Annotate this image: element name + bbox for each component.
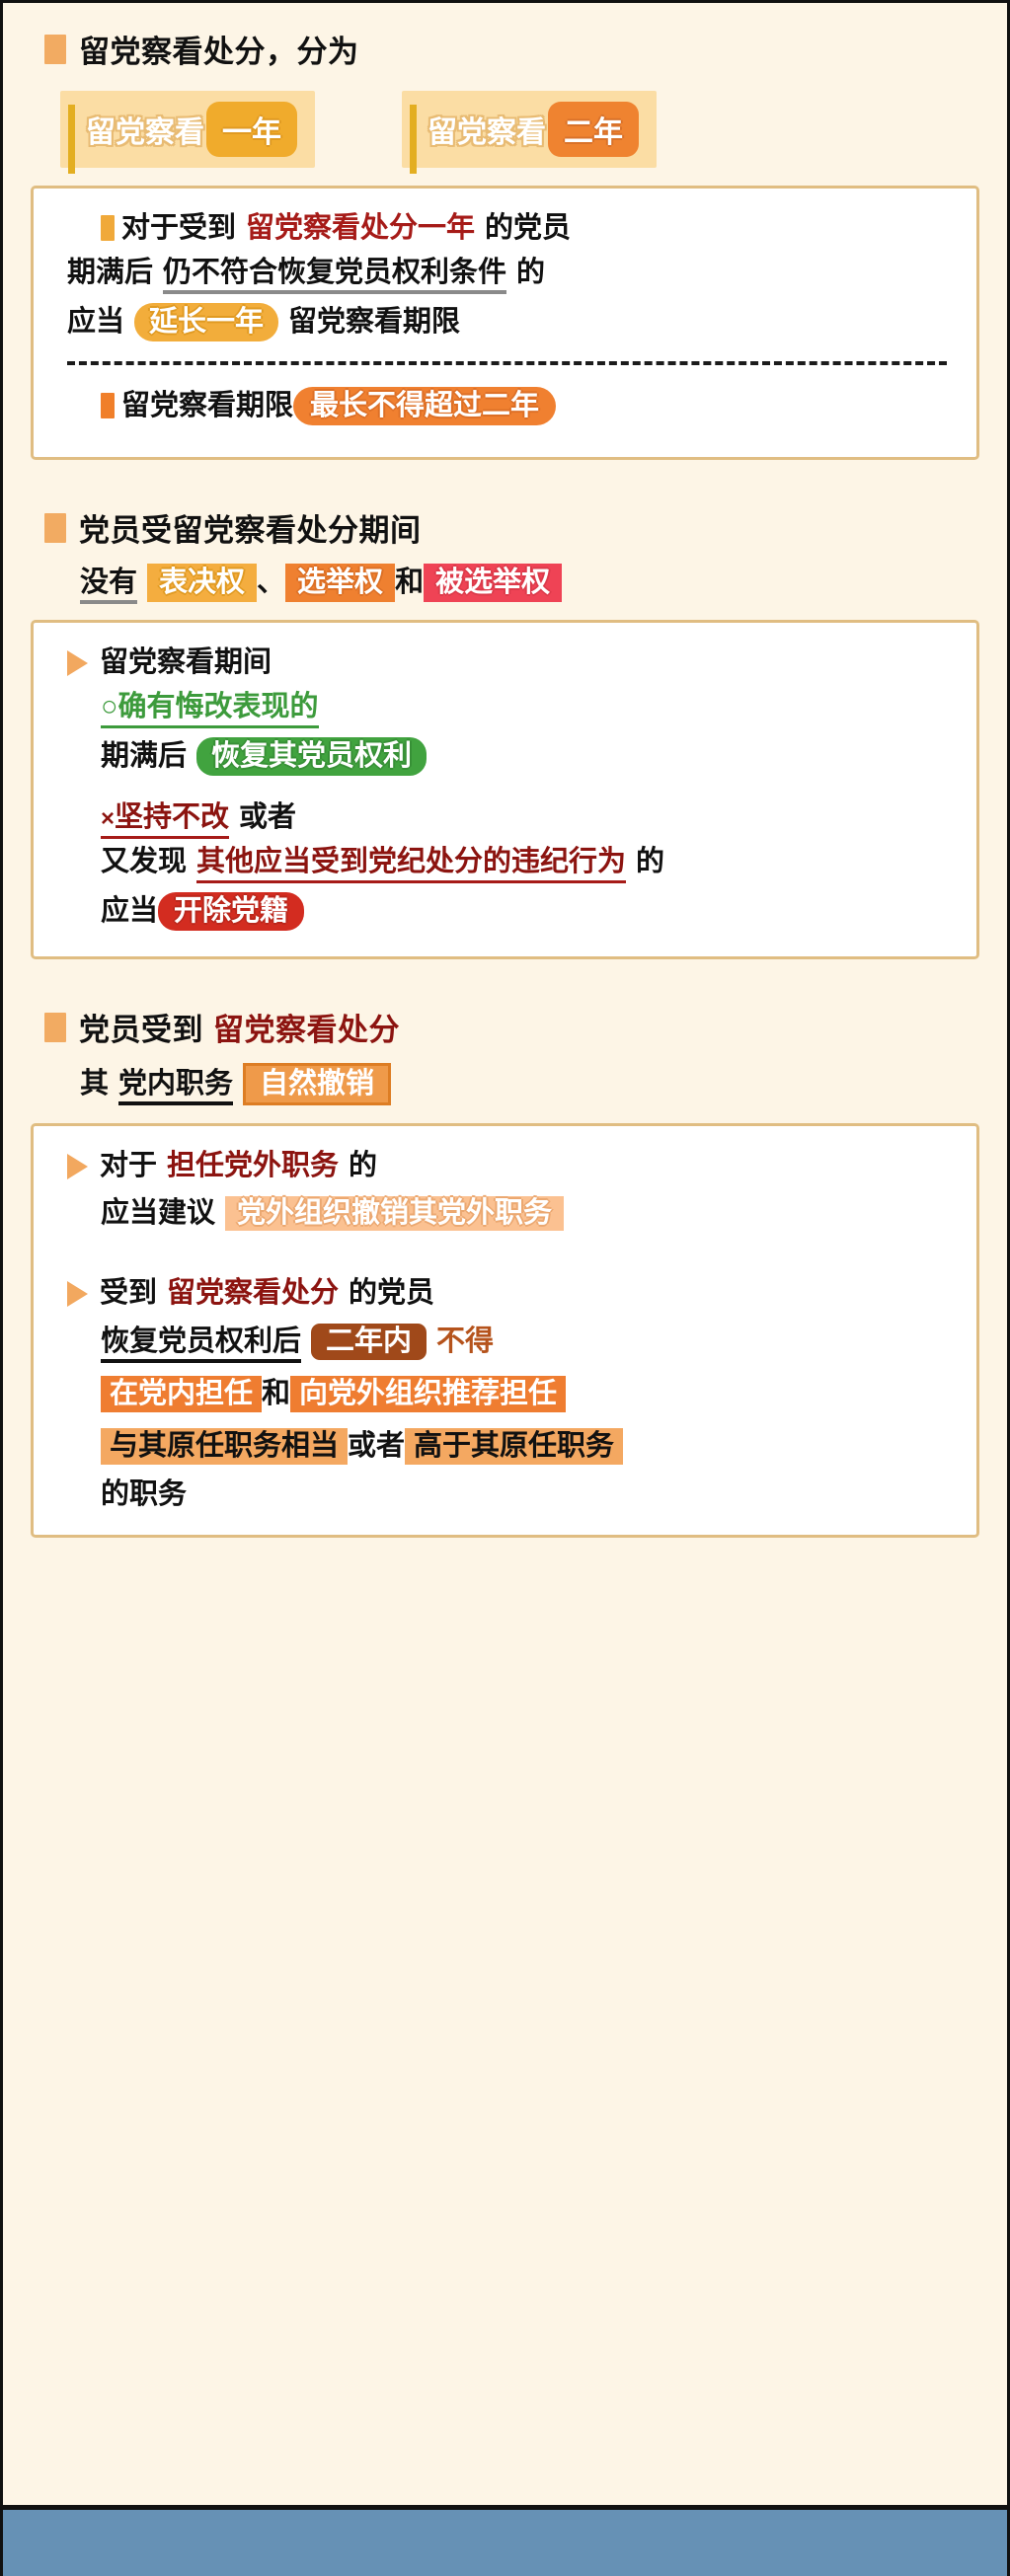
s3-b2-line-4: 与其原任职务相当或者高于其原任职务 xyxy=(67,1428,947,1465)
section-3-subline: 其党内职务自然撤销 xyxy=(44,1063,979,1105)
s2-l3-a: 期满后 xyxy=(101,740,187,772)
s3-b2-l4-c-mark: 高于其原任职务 xyxy=(405,1428,623,1465)
s3-b1-l2-b-highlight: 党外组织撤销其党外职务 xyxy=(225,1196,564,1234)
s2-line-2: ○确有悔改表现的 xyxy=(67,693,947,721)
section-3-card: 对于担任党外职务的 应当建议党外组织撤销其党外职务 受到留党察看处分的党员 恢复… xyxy=(31,1123,979,1538)
s3-b2-line-1: 受到留党察看处分的党员 xyxy=(67,1279,947,1308)
bottom-bar xyxy=(0,2505,1010,2576)
s1-b1-l1-c: 的党员 xyxy=(485,212,571,244)
year-badge-two-prefix: 留党察看 xyxy=(422,108,546,151)
circle-mark-icon: ○ xyxy=(101,691,118,722)
section-1-header: 留党察看处分，分为 xyxy=(31,27,979,71)
s1-b1-line-2: 期满后仍不符合恢复党员权利条件的 xyxy=(67,259,947,287)
s2-sep-1: 、 xyxy=(257,567,285,598)
s1-block-2: 留党察看期限最长不得超过二年 xyxy=(67,387,947,425)
s3-b1-l1-a: 对于 xyxy=(100,1152,157,1180)
s2-l1-text: 留党察看期间 xyxy=(100,648,272,677)
section-2-rights-line: 没有表决权、选举权和被选举权 xyxy=(44,564,979,602)
triangle-bullet-icon xyxy=(67,650,88,676)
s2-l2-text: 确有悔改表现的 xyxy=(118,691,319,722)
s3-b2-line-5: 的职务 xyxy=(67,1480,947,1509)
s1-b1-l2-a: 期满后 xyxy=(67,257,153,288)
s2-l5-a: 又发现 xyxy=(101,846,187,877)
square-bullet-icon xyxy=(44,1013,66,1042)
s2-l5-b: 其他应当受到党纪处分的违纪行为 xyxy=(196,846,626,883)
s3-b2-l4-a-mark: 与其原任职务相当 xyxy=(101,1428,348,1465)
s1-b1-l2-c: 的 xyxy=(516,257,545,288)
year-badge-two: 留党察看 二年 xyxy=(402,91,657,168)
s1-b1-l3-c: 留党察看期限 xyxy=(288,306,460,338)
year-badge-row: 留党察看 一年 留党察看 二年 xyxy=(31,77,979,176)
s3-b2-l3-c-mark: 向党外组织推荐担任 xyxy=(290,1376,566,1412)
content-sheet: 留党察看处分，分为 留党察看 一年 留党察看 二年 对于受到留党察看处分一年的党… xyxy=(3,3,1007,2505)
s1-b1-l1-a: 对于受到 xyxy=(121,212,236,244)
s2-line-5: 又发现其他应当受到党纪处分的违纪行为的 xyxy=(67,848,947,876)
s3-b2-l1-b: 留党察看处分 xyxy=(167,1279,339,1308)
square-bullet-icon xyxy=(44,35,66,64)
s2-l4-a: 坚持不改 xyxy=(115,801,229,833)
s2-line-4: ×坚持不改或者 xyxy=(67,803,947,832)
s1-block-1: 对于受到留党察看处分一年的党员 期满后仍不符合恢复党员权利条件的 应当延长一年留… xyxy=(67,214,947,341)
s2-line-6: 应当开除党籍 xyxy=(67,892,947,931)
s1-b2-l1-a: 留党察看期限 xyxy=(121,390,293,421)
year-badge-one: 留党察看 一年 xyxy=(60,91,315,168)
s3-sub-a: 其 xyxy=(80,1068,109,1099)
s2-l6-b-pill: 开除党籍 xyxy=(158,892,304,931)
s3-b1-line-1: 对于担任党外职务的 xyxy=(67,1152,947,1180)
section-2-title: 党员受留党察看处分期间 xyxy=(79,505,422,550)
s1-b2-l1-b-pill: 最长不得超过二年 xyxy=(293,387,556,425)
s1-b1-l1-b: 留党察看处分一年 xyxy=(246,212,475,244)
square-bullet-icon xyxy=(101,393,115,418)
s3-b2-line-2: 恢复党员权利后二年内不得 xyxy=(67,1324,947,1360)
s3-title-b: 留党察看处分 xyxy=(213,1013,400,1047)
s2-no-label: 没有 xyxy=(80,567,137,604)
s3-b2-l2-b-pill: 二年内 xyxy=(311,1324,427,1360)
s2-line-3: 期满后恢复其党员权利 xyxy=(67,737,947,776)
s3-b2-l3-b: 和 xyxy=(262,1378,290,1409)
year-badge-one-prefix: 留党察看 xyxy=(80,108,204,151)
s3-b2-l2-c: 不得 xyxy=(436,1326,494,1357)
s3-b2-l4-b: 或者 xyxy=(348,1430,405,1462)
s1-b1-l2-b: 仍不符合恢复党员权利条件 xyxy=(163,257,506,294)
s1-b1-line-3: 应当延长一年留党察看期限 xyxy=(67,303,947,341)
section-3-header: 党员受到留党察看处分 其党内职务自然撤销 xyxy=(31,1005,979,1105)
s2-l6-a: 应当 xyxy=(101,895,158,927)
triangle-bullet-icon xyxy=(67,1281,88,1307)
s3-b1-l2-a: 应当建议 xyxy=(101,1197,215,1229)
year-badge-two-pill: 二年 xyxy=(548,102,639,157)
s3-b2-l2-a: 恢复党员权利后 xyxy=(101,1326,301,1363)
s3-title-a: 党员受到 xyxy=(79,1013,203,1047)
right-chip-elect: 选举权 xyxy=(285,564,395,602)
square-bullet-icon xyxy=(44,513,66,543)
s3-b2-line-3: 在党内担任和向党外组织推荐担任 xyxy=(67,1376,947,1412)
year-badge-one-pill: 一年 xyxy=(206,102,297,157)
s1-b1-line-1: 对于受到留党察看处分一年的党员 xyxy=(67,214,947,243)
s3-b2-l1-a: 受到 xyxy=(100,1279,157,1308)
s1-b1-l3-a: 应当 xyxy=(67,306,124,338)
s3-sub-c-box: 自然撤销 xyxy=(243,1063,391,1105)
s3-b2-l1-c: 的党员 xyxy=(349,1279,434,1308)
s2-l3-b-pill: 恢复其党员权利 xyxy=(196,737,427,776)
section-2-card: 留党察看期间 ○确有悔改表现的 期满后恢复其党员权利 ×坚持不改或者 又发现其他… xyxy=(31,620,979,959)
cross-mark-icon: × xyxy=(101,805,115,832)
s3-b1-l1-b: 担任党外职务 xyxy=(167,1152,339,1180)
square-bullet-icon xyxy=(101,215,115,241)
s2-sep-2: 和 xyxy=(395,567,424,598)
section-2-header: 党员受留党察看处分期间 没有表决权、选举权和被选举权 xyxy=(31,505,979,602)
s2-line-1: 留党察看期间 xyxy=(67,648,947,677)
s3-b2-l5: 的职务 xyxy=(101,1478,187,1510)
s1-b1-l3-b-pill: 延长一年 xyxy=(134,303,278,341)
dashed-divider xyxy=(67,361,947,365)
section-3-title: 党员受到留党察看处分 xyxy=(79,1005,400,1049)
s3-b1-line-2: 应当建议党外组织撤销其党外职务 xyxy=(67,1196,947,1234)
triangle-bullet-icon xyxy=(67,1154,88,1179)
s3-b1-l1-c: 的 xyxy=(349,1152,377,1180)
right-chip-be-elected: 被选举权 xyxy=(424,564,562,602)
section-1-card: 对于受到留党察看处分一年的党员 期满后仍不符合恢复党员权利条件的 应当延长一年留… xyxy=(31,186,979,460)
infographic-page: 留党察看处分，分为 留党察看 一年 留党察看 二年 对于受到留党察看处分一年的党… xyxy=(0,0,1010,2576)
s2-l5-c: 的 xyxy=(636,846,664,877)
right-chip-vote: 表决权 xyxy=(147,564,257,602)
s3-sub-b: 党内职务 xyxy=(118,1068,233,1105)
section-1-title: 留党察看处分，分为 xyxy=(79,27,359,71)
s3-b2-l3-a-mark: 在党内担任 xyxy=(101,1376,262,1412)
s1-b2-line-1: 留党察看期限最长不得超过二年 xyxy=(67,387,947,425)
s2-l4-b: 或者 xyxy=(239,801,296,833)
